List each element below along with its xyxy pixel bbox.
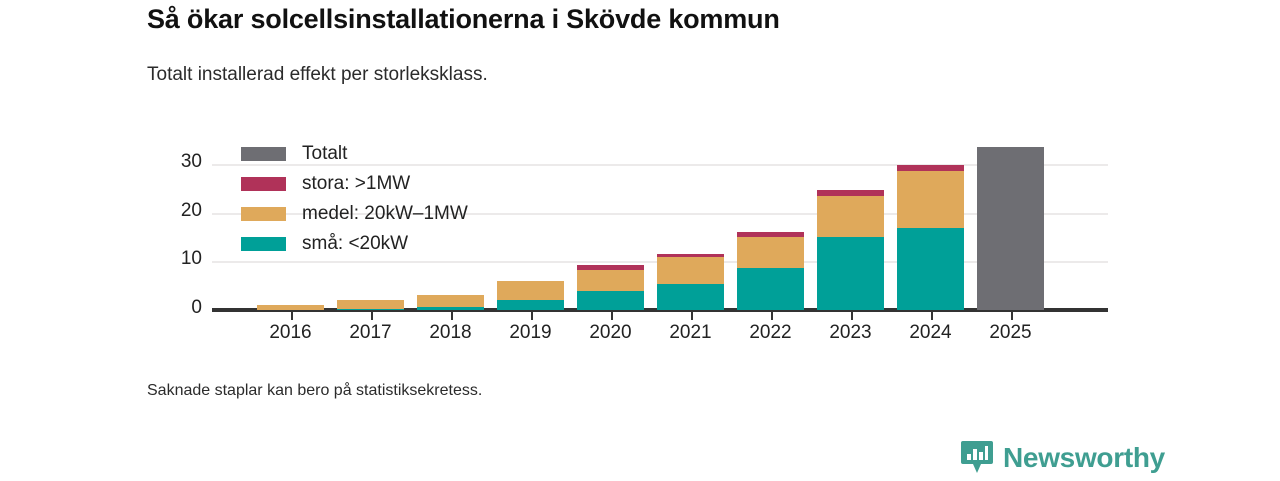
- x-axis-tick-label: 2018: [406, 322, 496, 344]
- x-axis-tick: [1011, 311, 1013, 320]
- x-axis-tick: [371, 311, 373, 320]
- bar-segment[interactable]: [497, 281, 564, 300]
- x-axis-tick-label: 2022: [726, 322, 816, 344]
- bar-segment[interactable]: [417, 307, 484, 310]
- bar-group[interactable]: [657, 0, 724, 310]
- x-axis-tick-label: 2021: [646, 322, 736, 344]
- y-axis-tick-label: 20: [150, 200, 202, 222]
- x-axis-tick: [771, 311, 773, 320]
- bar-segment[interactable]: [577, 270, 644, 290]
- x-axis-tick: [931, 311, 933, 320]
- x-axis-tick: [611, 311, 613, 320]
- x-axis-tick-label: 2025: [966, 322, 1056, 344]
- bar-group[interactable]: [257, 0, 324, 310]
- bar-segment[interactable]: [657, 257, 724, 283]
- bar-group[interactable]: [417, 0, 484, 310]
- bar-segment[interactable]: [577, 291, 644, 310]
- bar-segment[interactable]: [897, 171, 964, 227]
- x-axis-tick-label: 2019: [486, 322, 576, 344]
- bar-group[interactable]: [817, 0, 884, 310]
- bar-segment[interactable]: [497, 300, 564, 310]
- bar-segment[interactable]: [737, 232, 804, 237]
- bar-segment[interactable]: [337, 300, 404, 308]
- x-axis-tick: [291, 311, 293, 320]
- y-axis-tick-label: 0: [150, 297, 202, 319]
- newsworthy-logo[interactable]: Newsworthy: [960, 440, 1165, 476]
- x-axis-tick: [531, 311, 533, 320]
- bar-segment[interactable]: [337, 309, 404, 310]
- bar-group[interactable]: [737, 0, 804, 310]
- x-axis-tick: [451, 311, 453, 320]
- chart-footnote: Saknade staplar kan bero på statistiksek…: [147, 382, 482, 400]
- bar-segment[interactable]: [737, 268, 804, 310]
- x-axis-tick-label: 2016: [246, 322, 336, 344]
- bar-segment-total[interactable]: [977, 147, 1044, 310]
- bar-group[interactable]: [577, 0, 644, 310]
- bar-segment[interactable]: [657, 284, 724, 310]
- x-axis-tick-label: 2017: [326, 322, 416, 344]
- bar-group[interactable]: [977, 0, 1044, 310]
- bar-group[interactable]: [497, 0, 564, 310]
- bar-segment[interactable]: [257, 305, 324, 310]
- x-axis-tick-label: 2024: [886, 322, 976, 344]
- y-axis-tick-label: 10: [150, 248, 202, 270]
- bar-segment[interactable]: [737, 237, 804, 268]
- bar-chart-pin-icon: [960, 440, 994, 476]
- bar-segment[interactable]: [417, 295, 484, 306]
- x-axis-tick: [851, 311, 853, 320]
- x-axis-tick: [691, 311, 693, 320]
- bar-segment[interactable]: [897, 228, 964, 310]
- bar-segment[interactable]: [577, 265, 644, 270]
- y-axis-tick-label: 30: [150, 151, 202, 173]
- x-axis-tick-label: 2020: [566, 322, 656, 344]
- bar-segment[interactable]: [897, 165, 964, 171]
- bar-group[interactable]: [897, 0, 964, 310]
- bar-segment[interactable]: [657, 254, 724, 258]
- bar-segment[interactable]: [817, 237, 884, 310]
- x-axis-tick-label: 2023: [806, 322, 896, 344]
- logo-wordmark: Newsworthy: [1003, 442, 1165, 474]
- bar-group[interactable]: [337, 0, 404, 310]
- bar-segment[interactable]: [817, 196, 884, 238]
- bar-segment[interactable]: [817, 190, 884, 195]
